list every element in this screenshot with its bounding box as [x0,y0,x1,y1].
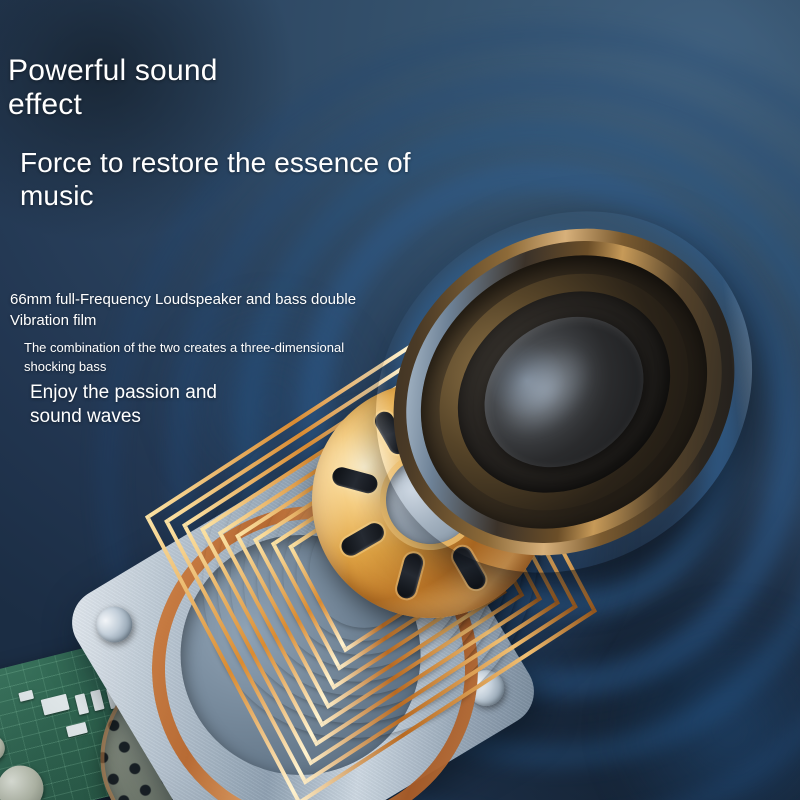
tagline: Enjoy the passion and sound waves [30,381,217,429]
marketing-copy: Powerful sound effect Force to restore t… [0,0,800,800]
detail-text: The combination of the two creates a thr… [24,338,344,376]
headline: Powerful sound effect [8,54,218,122]
product-promo-banner: Powerful sound effect Force to restore t… [0,0,800,800]
subheading: Force to restore the essence of music [20,146,411,212]
spec-text: 66mm full-Frequency Loudspeaker and bass… [10,289,356,331]
